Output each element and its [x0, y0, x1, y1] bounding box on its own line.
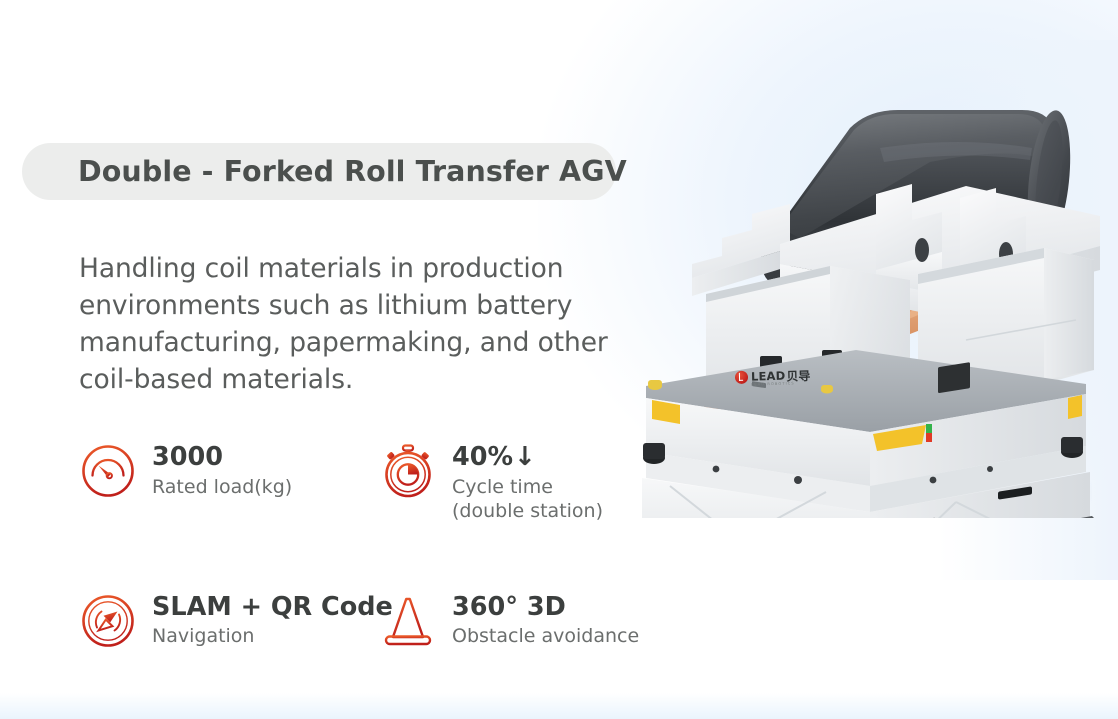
feature-value-number: 3000	[152, 444, 223, 471]
feature-item-obstacle-avoidance: 360° 3D Obstacle avoidance	[379, 590, 649, 650]
lead-logo: LEAD 贝导 LEAD ROBOTICS	[735, 369, 811, 384]
slide-root: Double - Forked Roll Transfer AGV Handli…	[0, 0, 1118, 719]
lead-logo-mark-icon	[735, 371, 748, 384]
feature-value-number: 360° 3D	[452, 594, 566, 621]
stopwatch-icon	[379, 442, 437, 500]
traffic-cone-icon	[379, 592, 437, 650]
lead-logo-chinese: 贝导	[786, 370, 810, 383]
page-title: Double - Forked Roll Transfer AGV	[78, 155, 627, 188]
feature-text: 3000 Rated load(kg)	[152, 440, 292, 499]
compass-icon	[79, 592, 137, 650]
feature-text: SLAM + QR Code Navigation	[152, 590, 393, 649]
agv-illustration	[630, 88, 1118, 518]
feature-label: Rated load(kg)	[152, 475, 292, 499]
feature-row: 3000 Rated load(kg)	[79, 440, 649, 523]
gauge-icon	[79, 442, 137, 500]
feature-value: SLAM + QR Code	[152, 594, 393, 621]
agv-product-image	[630, 88, 1118, 518]
feature-item-cycle-time: 40% ↓ Cycle time (double station)	[379, 440, 649, 523]
description-text: Handling coil materials in production en…	[79, 250, 639, 398]
feature-value: 3000	[152, 444, 292, 471]
title-pill: Double - Forked Roll Transfer AGV	[22, 143, 616, 200]
feature-item-rated-load: 3000 Rated load(kg)	[79, 440, 379, 523]
content-column: Double - Forked Roll Transfer AGV Handli…	[0, 0, 660, 719]
feature-value: 360° 3D	[452, 594, 639, 621]
feature-value-number: 40%	[452, 444, 513, 471]
feature-value: 40% ↓	[452, 444, 603, 471]
feature-label: Navigation	[152, 624, 393, 648]
feature-text: 40% ↓ Cycle time (double station)	[452, 440, 603, 523]
feature-item-navigation: SLAM + QR Code Navigation	[79, 590, 379, 650]
feature-row: SLAM + QR Code Navigation	[79, 590, 649, 650]
feature-grid: 3000 Rated load(kg)	[79, 440, 649, 650]
feature-text: 360° 3D Obstacle avoidance	[452, 590, 639, 649]
feature-value-number: SLAM + QR Code	[152, 594, 393, 621]
feature-label: Obstacle avoidance	[452, 624, 639, 648]
feature-label-line1: Cycle time	[452, 475, 603, 499]
feature-label-line2: (double station)	[452, 499, 603, 523]
arrow-down-icon: ↓	[514, 444, 536, 470]
